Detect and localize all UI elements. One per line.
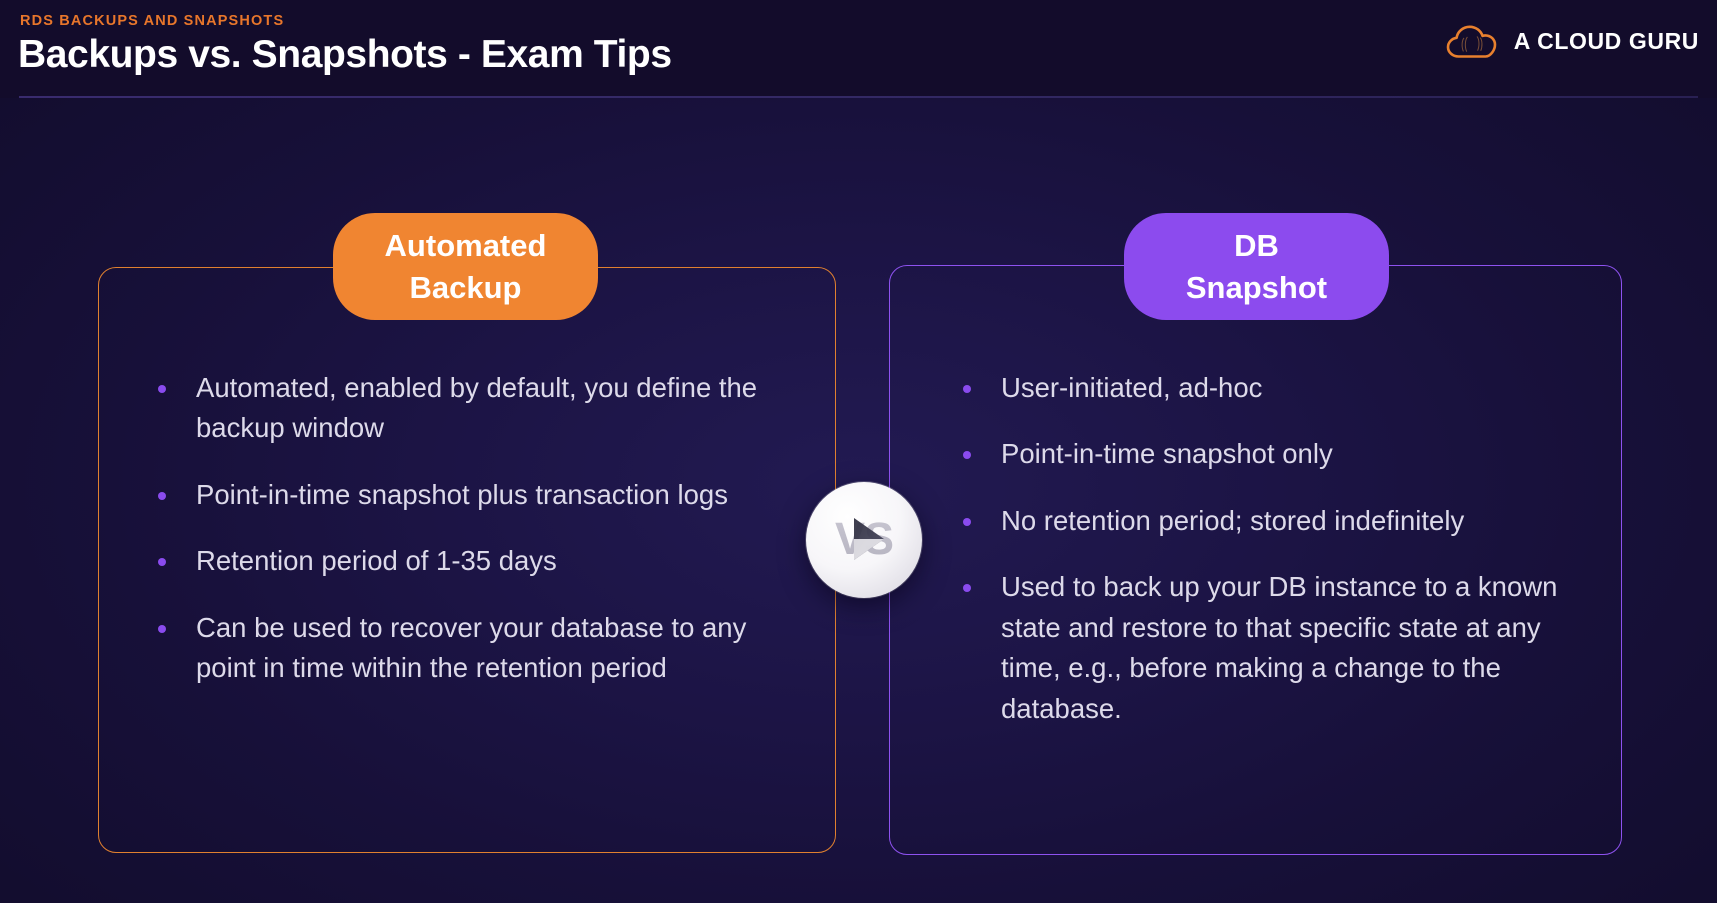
bullet-dot-icon bbox=[158, 558, 166, 566]
eyebrow-label: RDS BACKUPS AND SNAPSHOTS bbox=[20, 13, 284, 29]
list-item: Automated, enabled by default, you defin… bbox=[150, 368, 760, 449]
bullet-dot-icon bbox=[963, 584, 971, 592]
pill-line-2: Backup bbox=[410, 267, 522, 308]
brand-name-label: A CLOUD GURU bbox=[1514, 28, 1699, 55]
slide-root: RDS BACKUPS AND SNAPSHOTS Backups vs. Sn… bbox=[0, 0, 1717, 903]
bullet-dot-icon bbox=[963, 385, 971, 393]
list-item-text: Can be used to recover your database to … bbox=[196, 612, 746, 683]
bullet-list-db-snapshot: User-initiated, ad-hoc Point-in-time sna… bbox=[955, 368, 1570, 729]
list-item: Can be used to recover your database to … bbox=[150, 608, 760, 689]
list-item-text: Used to back up your DB instance to a kn… bbox=[1001, 571, 1557, 723]
list-item: Used to back up your DB instance to a kn… bbox=[955, 567, 1570, 729]
list-item-text: No retention period; stored indefinitely bbox=[1001, 505, 1464, 536]
vs-badge: VS bbox=[806, 482, 922, 598]
vs-play-icon: VS bbox=[806, 482, 922, 598]
bullet-dot-icon bbox=[158, 492, 166, 500]
cloud-icon bbox=[1444, 22, 1500, 60]
bullet-dot-icon bbox=[963, 518, 971, 526]
list-item-text: User-initiated, ad-hoc bbox=[1001, 372, 1262, 403]
comparison-columns: Automated Backup Automated, enabled by d… bbox=[0, 0, 1717, 903]
page-title: Backups vs. Snapshots - Exam Tips bbox=[18, 33, 672, 77]
list-item-text: Retention period of 1-35 days bbox=[196, 545, 557, 576]
list-item: Point-in-time snapshot plus transaction … bbox=[150, 475, 760, 515]
pill-automated-backup: Automated Backup bbox=[333, 213, 598, 320]
list-item: User-initiated, ad-hoc bbox=[955, 368, 1570, 408]
bullet-dot-icon bbox=[963, 451, 971, 459]
pill-db-snapshot: DB Snapshot bbox=[1124, 213, 1389, 320]
pill-line-1: DB bbox=[1234, 225, 1279, 266]
bullet-list-automated-backup: Automated, enabled by default, you defin… bbox=[150, 368, 760, 689]
bullet-dot-icon bbox=[158, 385, 166, 393]
brand-logo: A CLOUD GURU bbox=[1444, 22, 1699, 60]
list-item-text: Automated, enabled by default, you defin… bbox=[196, 372, 757, 443]
pill-line-1: Automated bbox=[385, 225, 547, 266]
list-item: No retention period; stored indefinitely bbox=[955, 501, 1570, 541]
slide-header: RDS BACKUPS AND SNAPSHOTS Backups vs. Sn… bbox=[0, 0, 1717, 98]
header-divider bbox=[19, 96, 1698, 98]
list-item-text: Point-in-time snapshot plus transaction … bbox=[196, 479, 728, 510]
list-item: Retention period of 1-35 days bbox=[150, 541, 760, 581]
pill-line-2: Snapshot bbox=[1186, 267, 1327, 308]
bullet-dot-icon bbox=[158, 625, 166, 633]
list-item: Point-in-time snapshot only bbox=[955, 434, 1570, 474]
list-item-text: Point-in-time snapshot only bbox=[1001, 438, 1333, 469]
